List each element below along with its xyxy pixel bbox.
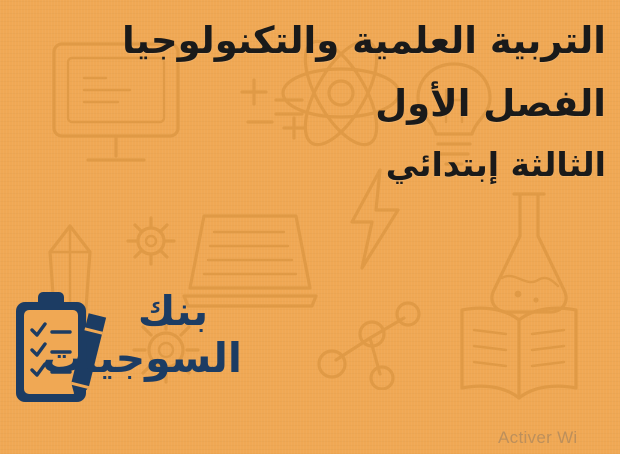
headline-line-1: التربية العلمية والتكنولوجيا (20, 18, 606, 64)
logo-line-1: بنك (104, 288, 242, 335)
flask-icon (474, 182, 584, 322)
brand-logo: بنك السوجيات (8, 282, 240, 416)
gear-large-icon (122, 212, 180, 270)
poster-headline: التربية العلمية والتكنولوجيا الفصل الأول… (20, 18, 606, 189)
headline-line-2: الفصل الأول (20, 76, 606, 132)
molecule-icon (314, 298, 424, 390)
open-book-icon (448, 298, 590, 410)
headline-line-3: الثالثة إبتدائي (20, 140, 606, 190)
activation-watermark: Activer Wi (498, 428, 610, 448)
logo-line-2: السوجيات (104, 335, 242, 382)
logo-wordmark: بنك السوجيات (104, 288, 242, 382)
poster-canvas: التربية العلمية والتكنولوجيا الفصل الأول… (0, 0, 620, 454)
